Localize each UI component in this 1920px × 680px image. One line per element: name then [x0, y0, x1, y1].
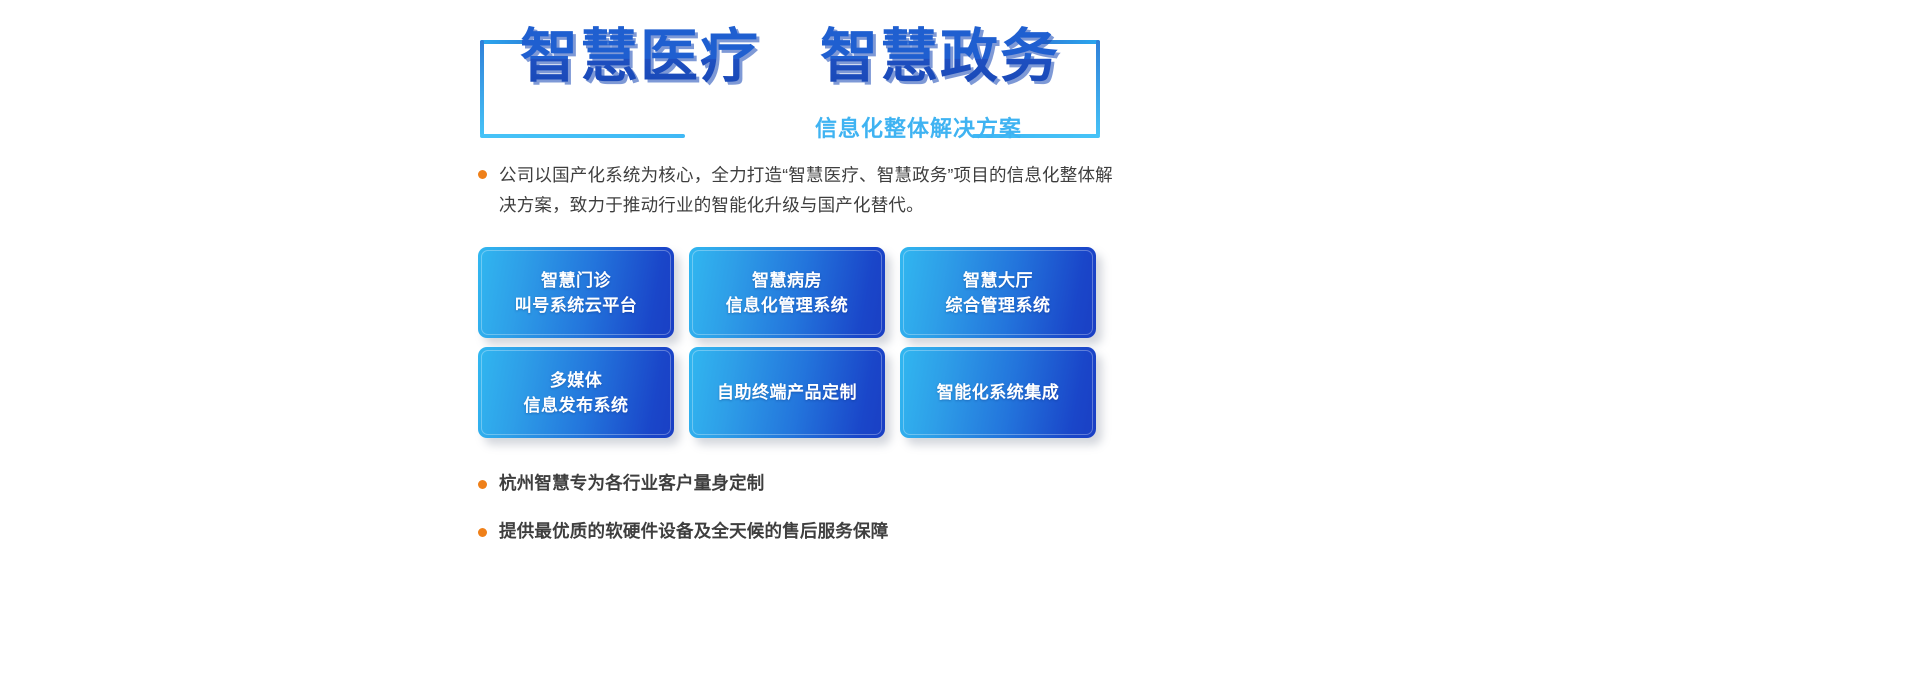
- bullet-text: 提供最优质的软硬件设备及全天候的售后服务保障: [499, 518, 888, 544]
- orange-dot-icon: [478, 528, 487, 537]
- page-subtitle: 信息化整体解决方案: [815, 114, 1100, 144]
- intro-paragraph: 公司以国产化系统为核心，全力打造“智慧医疗、智慧政务”项目的信息化整体解决方案，…: [478, 160, 1118, 220]
- list-item: 杭州智慧专为各行业客户量身定制: [478, 470, 1138, 496]
- solution-card-label: 多媒体 信息发布系统: [524, 368, 629, 418]
- orange-dot-icon: [478, 480, 487, 489]
- solution-card-label: 智慧门诊 叫号系统云平台: [515, 268, 638, 318]
- intro-text: 公司以国产化系统为核心，全力打造“智慧医疗、智慧政务”项目的信息化整体解决方案，…: [499, 160, 1118, 220]
- list-item: 提供最优质的软硬件设备及全天候的售后服务保障: [478, 518, 1138, 544]
- solution-card[interactable]: 多媒体 信息发布系统: [478, 347, 674, 438]
- poster-canvas: 智慧医疗 智慧政务 信息化整体解决方案 公司以国产化系统为核心，全力打造“智慧医…: [0, 0, 1920, 680]
- solution-card[interactable]: 智慧大厅 综合管理系统: [900, 247, 1096, 338]
- page-title: 智慧医疗 智慧政务: [480, 18, 1100, 96]
- subtitle-row: 信息化整体解决方案: [480, 114, 1100, 144]
- solution-card-label: 智能化系统集成: [937, 380, 1060, 405]
- solution-card-label: 智慧大厅 综合管理系统: [946, 268, 1051, 318]
- solution-card[interactable]: 自助终端产品定制: [689, 347, 885, 438]
- feature-bullet-list: 杭州智慧专为各行业客户量身定制 提供最优质的软硬件设备及全天候的售后服务保障: [478, 470, 1138, 566]
- orange-dot-icon: [478, 170, 487, 179]
- solution-card-label: 智慧病房 信息化管理系统: [726, 268, 849, 318]
- solution-card[interactable]: 智慧门诊 叫号系统云平台: [478, 247, 674, 338]
- solution-card[interactable]: 智能化系统集成: [900, 347, 1096, 438]
- solution-card-label: 自助终端产品定制: [717, 380, 857, 405]
- title-block: 智慧医疗 智慧政务 信息化整体解决方案: [480, 18, 1100, 138]
- solution-card-grid: 智慧门诊 叫号系统云平台 智慧病房 信息化管理系统 智慧大厅 综合管理系统 多媒…: [478, 247, 1096, 438]
- bullet-text: 杭州智慧专为各行业客户量身定制: [499, 470, 765, 496]
- solution-card[interactable]: 智慧病房 信息化管理系统: [689, 247, 885, 338]
